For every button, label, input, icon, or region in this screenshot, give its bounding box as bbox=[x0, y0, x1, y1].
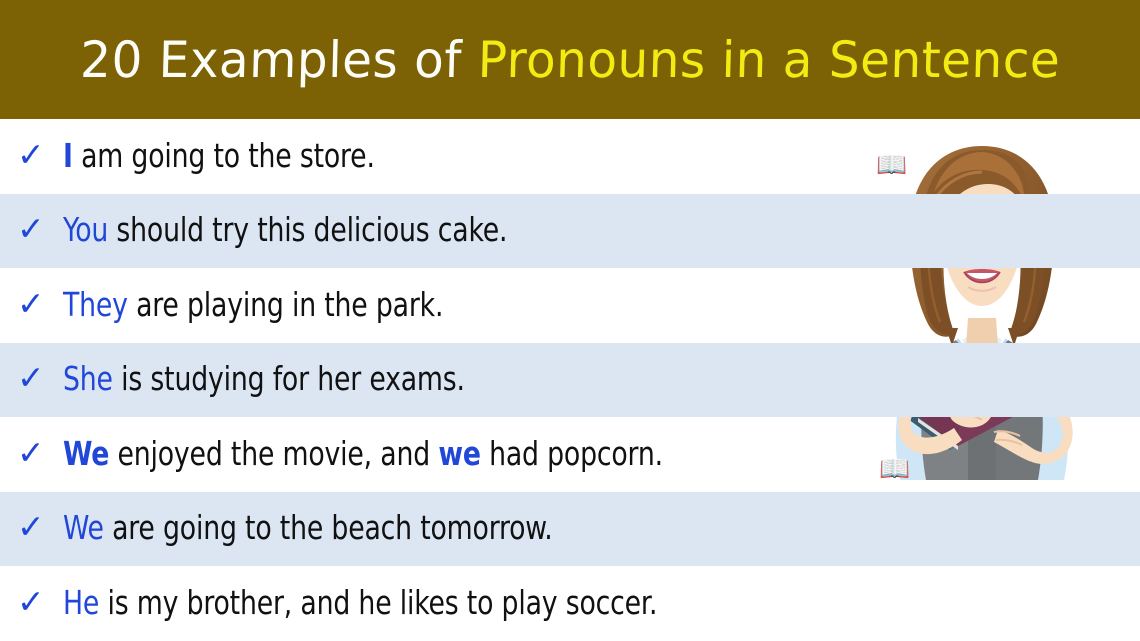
page-title-white-part: 20 Examples of bbox=[79, 31, 478, 89]
header-banner: 20 Examples of Pronouns in a Sentence bbox=[0, 0, 1140, 119]
sentence-plain-text: is my brother, and he likes to play socc… bbox=[99, 583, 657, 622]
sentence-plain-text: is studying for her exams. bbox=[113, 359, 465, 398]
check-icon: ✓ bbox=[17, 510, 63, 543]
sentence-text: We are going to the beach tomorrow. bbox=[63, 511, 1032, 546]
list-item: ✓ We enjoyed the movie, and we had popco… bbox=[0, 417, 1140, 492]
pronoun-highlight: We bbox=[63, 508, 104, 547]
list-item: ✓ They are playing in the park. bbox=[0, 268, 1140, 343]
list-item: ✓ She is studying for her exams. bbox=[0, 343, 1140, 418]
sentence-plain-text: am going to the store. bbox=[73, 136, 375, 175]
check-icon: ✓ bbox=[17, 436, 63, 469]
list-item: ✓ You should try this delicious cake. bbox=[0, 194, 1140, 269]
sentence-plain-text: are going to the beach tomorrow. bbox=[104, 508, 553, 547]
pronoun-highlight: We bbox=[63, 434, 109, 473]
sentence-text: He is my brother, and he likes to play s… bbox=[63, 586, 1032, 621]
check-icon: ✓ bbox=[17, 212, 63, 245]
open-book-icon: 📖 bbox=[879, 456, 910, 481]
pronoun-highlight: I bbox=[63, 136, 73, 175]
check-icon: ✓ bbox=[17, 287, 63, 320]
sentence-text: They are playing in the park. bbox=[63, 288, 1032, 323]
examples-list: ✓ I am going to the store. ✓ You should … bbox=[0, 119, 1140, 641]
list-item: ✓ We are going to the beach tomorrow. bbox=[0, 492, 1140, 567]
pronoun-highlight: we bbox=[438, 434, 480, 473]
sentence-text: You should try this delicious cake. bbox=[63, 213, 1032, 248]
pronoun-highlight: They bbox=[63, 285, 128, 324]
check-icon: ✓ bbox=[17, 361, 63, 394]
sentence-plain-text: had popcorn. bbox=[481, 434, 663, 473]
pronoun-highlight: He bbox=[63, 583, 99, 622]
check-icon: ✓ bbox=[17, 585, 63, 618]
pronoun-highlight: You bbox=[63, 210, 108, 249]
sentence-plain-text: enjoyed the movie, and bbox=[109, 434, 438, 473]
pronoun-highlight: She bbox=[63, 359, 113, 398]
infographic-page: 20 Examples of Pronouns in a Sentence ✓ … bbox=[0, 0, 1140, 641]
check-icon: ✓ bbox=[17, 138, 63, 171]
list-item: ✓ He is my brother, and he likes to play… bbox=[0, 566, 1140, 641]
list-item: ✓ I am going to the store. bbox=[0, 119, 1140, 194]
sentence-plain-text: are playing in the park. bbox=[128, 285, 443, 324]
sentence-text: She is studying for her exams. bbox=[63, 362, 1032, 397]
open-book-icon: 📖 bbox=[876, 152, 907, 177]
page-title: 20 Examples of Pronouns in a Sentence bbox=[79, 35, 1060, 85]
sentence-plain-text: should try this delicious cake. bbox=[108, 210, 507, 249]
page-title-yellow-part: Pronouns in a Sentence bbox=[477, 31, 1061, 89]
